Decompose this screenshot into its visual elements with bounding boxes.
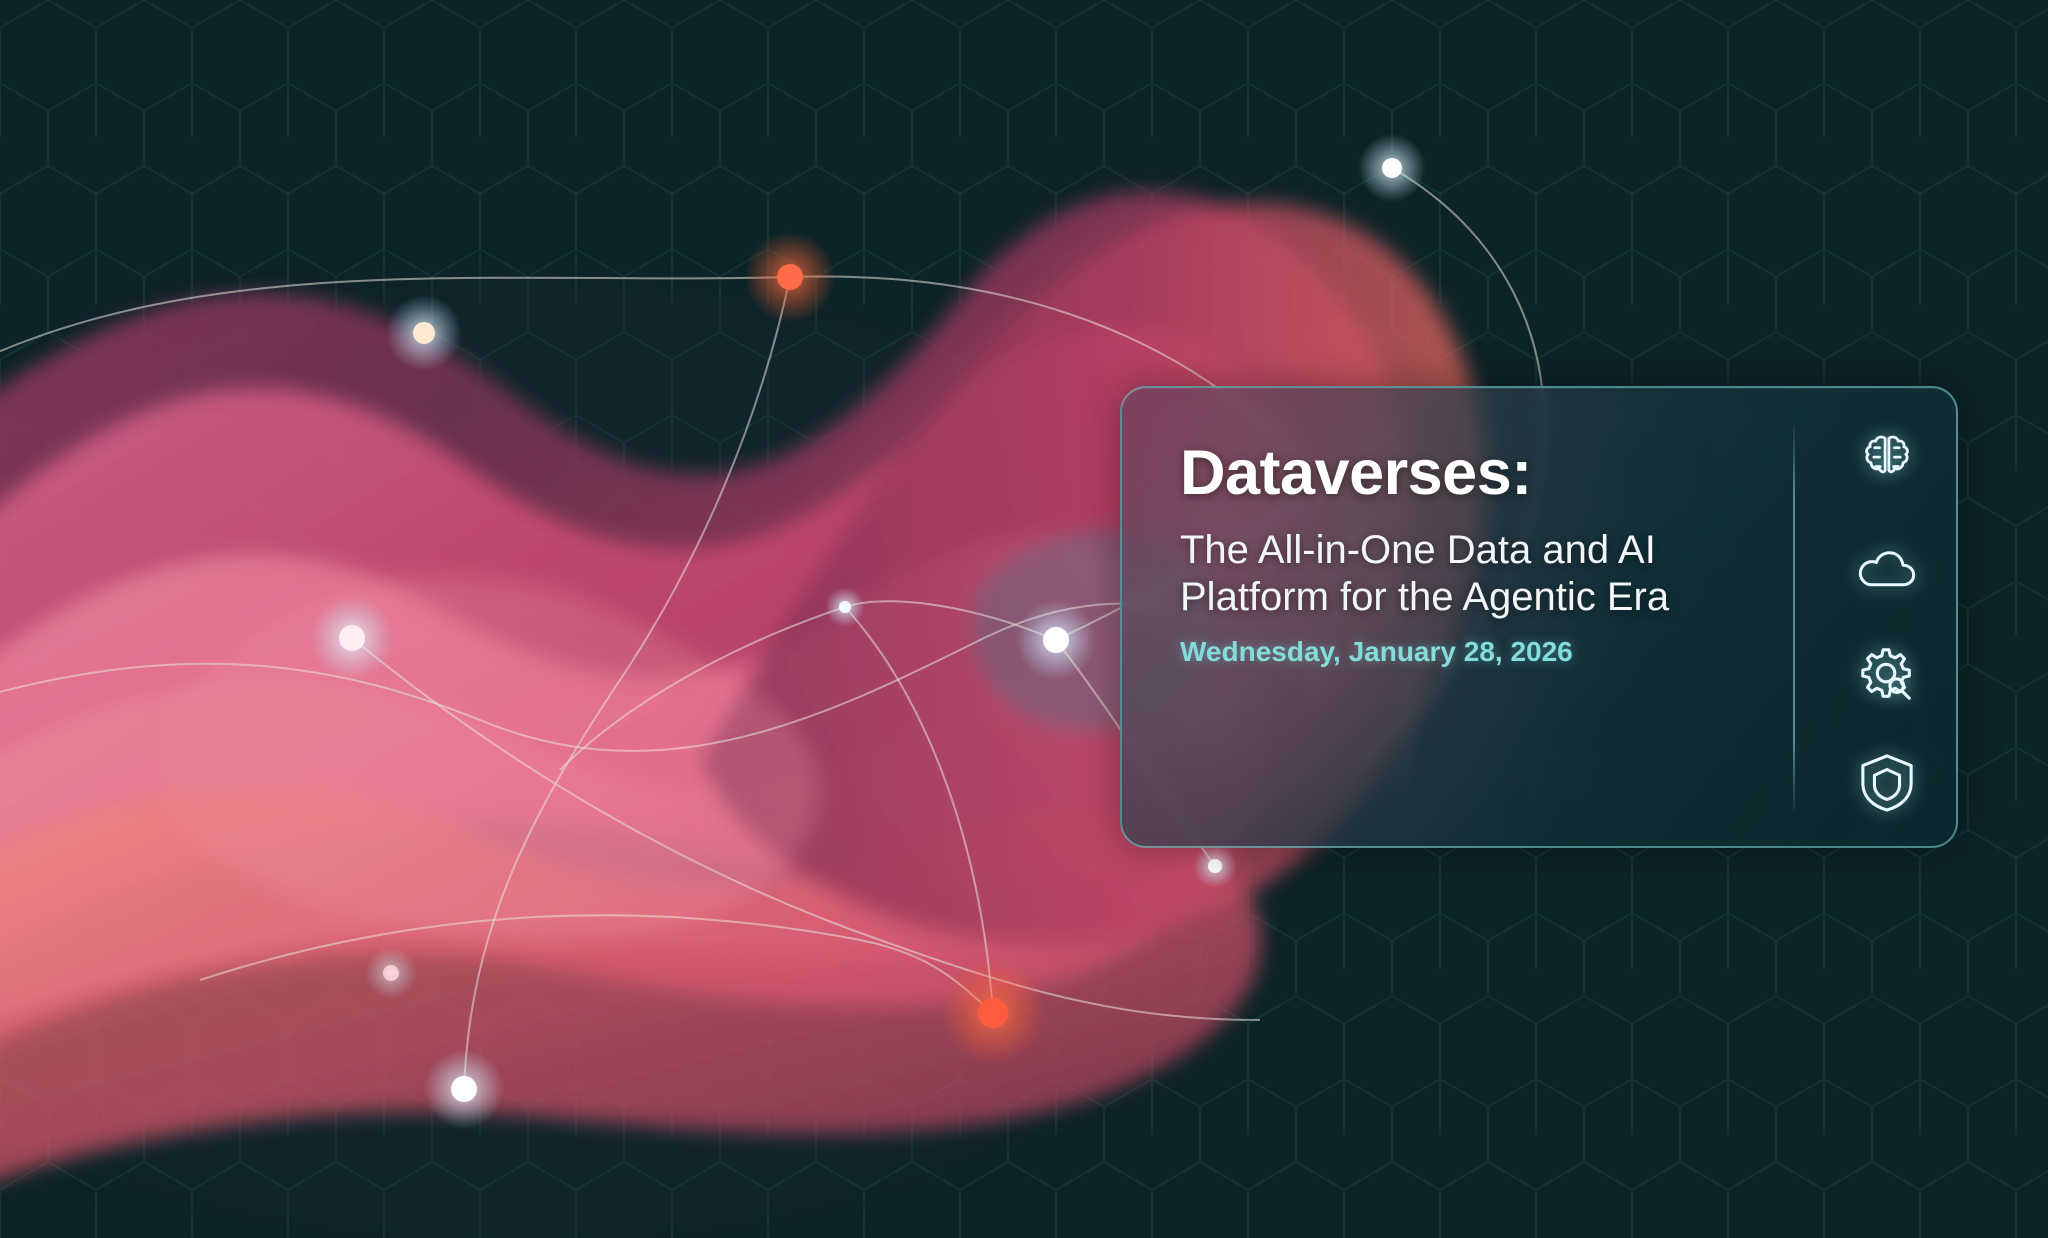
node-white-card-bottom — [1193, 844, 1237, 888]
node-white-small-mid — [825, 587, 865, 627]
page-title: Dataverses: — [1180, 442, 1780, 505]
event-info-card: Dataverses: The All-in-One Data and AI P… — [1120, 386, 1958, 848]
card-divider — [1793, 426, 1795, 811]
cloud-icon — [1854, 534, 1920, 600]
promo-banner: Dataverses: The All-in-One Data and AI P… — [0, 0, 2048, 1238]
event-subtitle: The All-in-One Data and AI Platform for … — [1180, 527, 1780, 621]
brain-icon — [1854, 426, 1920, 492]
node-white-center — [1016, 600, 1096, 680]
node-white-mid-left — [310, 596, 394, 680]
node-white-upper-left — [386, 295, 462, 371]
node-white-lowleft-faint — [365, 947, 417, 999]
node-white-bottom-left — [424, 1049, 504, 1129]
shield-icon — [1854, 750, 1920, 816]
node-orange-top — [744, 231, 836, 323]
node-white-top-right — [1358, 134, 1426, 202]
node-orange-bottom — [941, 961, 1045, 1065]
icon-rail — [1822, 426, 1952, 816]
card-text-block: Dataverses: The All-in-One Data and AI P… — [1180, 442, 1780, 667]
event-date: Wednesday, January 28, 2026 — [1180, 637, 1780, 668]
gear-search-icon — [1854, 642, 1920, 708]
